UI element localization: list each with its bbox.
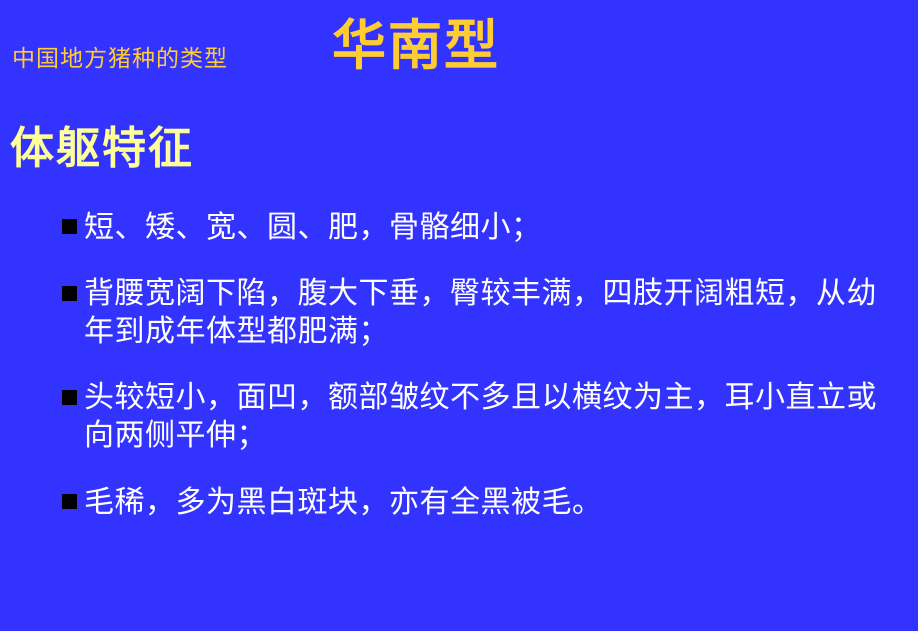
list-item: 背腰宽阔下陷，腹大下垂，臀较丰满，四肢开阔粗短，从幼年到成年体型都肥满； (60, 275, 898, 351)
list-item: 短、矮、宽、圆、肥，骨骼细小； (60, 208, 898, 247)
presentation-slide: 中国地方猪种的类型 华南型 体躯特征 短、矮、宽、圆、肥，骨骼细小； 背腰宽阔下… (0, 0, 918, 631)
list-item-text: 短、矮、宽、圆、肥，骨骼细小； (84, 208, 898, 247)
list-item: 头较短小，面凹，额部皱纹不多且以横纹为主，耳小直立或向两侧平伸； (60, 379, 898, 455)
section-heading: 体躯特征 (10, 122, 194, 176)
slide-kicker-text: 中国地方猪种的类型 (12, 44, 228, 74)
square-bullet-icon (62, 286, 77, 301)
square-bullet-icon (62, 390, 77, 405)
page-title: 华南型 (332, 14, 500, 76)
square-bullet-icon (62, 494, 77, 509)
square-bullet-icon (62, 219, 77, 234)
list-item-text: 毛稀，多为黑白斑块，亦有全黑被毛。 (84, 483, 898, 522)
list-item-text: 头较短小，面凹，额部皱纹不多且以横纹为主，耳小直立或向两侧平伸； (84, 379, 898, 455)
bullet-list: 短、矮、宽、圆、肥，骨骼细小； 背腰宽阔下陷，腹大下垂，臀较丰满，四肢开阔粗短，… (60, 208, 898, 522)
list-item-text: 背腰宽阔下陷，腹大下垂，臀较丰满，四肢开阔粗短，从幼年到成年体型都肥满； (84, 275, 898, 351)
list-item: 毛稀，多为黑白斑块，亦有全黑被毛。 (60, 483, 898, 522)
slide-header: 中国地方猪种的类型 华南型 (0, 0, 918, 110)
